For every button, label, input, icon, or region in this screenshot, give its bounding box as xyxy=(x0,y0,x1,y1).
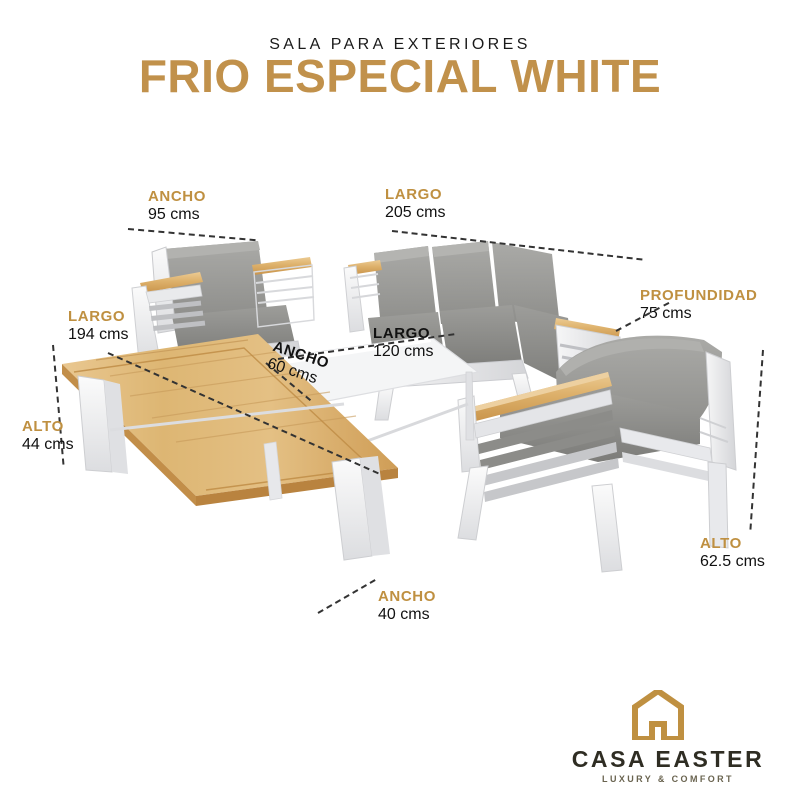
dimension-bench-height: ALTO 44 cms xyxy=(22,418,74,455)
dimension-value: 194 cms xyxy=(68,325,128,345)
dimension-sofa-depth: PROFUNDIDAD 75 cms xyxy=(640,287,757,324)
dimension-armchair-height: ALTO 62.5 cms xyxy=(700,535,765,572)
dimension-sofa-length: LARGO 205 cms xyxy=(385,186,445,223)
house-icon xyxy=(630,690,686,740)
brand-name: CASA EASTER xyxy=(548,746,788,773)
dimension-table-length: LARGO 120 cms xyxy=(373,325,433,362)
dimension-label: ALTO xyxy=(700,535,765,552)
dimension-label: LARGO xyxy=(68,308,128,325)
dimension-bench-length: LARGO 194 cms xyxy=(68,308,128,345)
dimension-value: 62.5 cms xyxy=(700,552,765,572)
dimension-label: ANCHO xyxy=(378,588,436,605)
dimension-label: ANCHO xyxy=(148,188,206,205)
furniture-illustration xyxy=(0,0,800,800)
dimension-value: 75 cms xyxy=(640,304,757,324)
dimension-label: ALTO xyxy=(22,418,74,435)
brand-logo: CASA EASTER LUXURY & COMFORT xyxy=(548,690,788,786)
dimension-label: LARGO xyxy=(373,325,433,342)
brand-tagline: LUXURY & COMFORT xyxy=(548,774,788,784)
dimension-value: 120 cms xyxy=(373,342,433,362)
infographic-page: SALA PARA EXTERIORES FRIO ESPECIAL WHITE xyxy=(0,0,800,800)
dimension-bench-width: ANCHO 40 cms xyxy=(378,588,436,625)
dimension-value: 40 cms xyxy=(378,605,436,625)
dimension-value: 205 cms xyxy=(385,203,445,223)
dimension-value: 44 cms xyxy=(22,435,74,455)
dimension-value: 95 cms xyxy=(148,205,206,225)
dimension-label: LARGO xyxy=(385,186,445,203)
dimension-armchair-width: ANCHO 95 cms xyxy=(148,188,206,225)
dimension-label: PROFUNDIDAD xyxy=(640,287,757,304)
